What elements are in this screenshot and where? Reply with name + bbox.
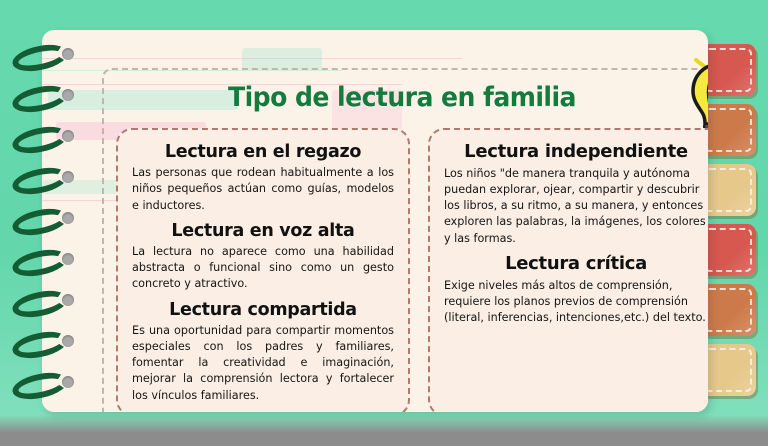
section-body: Los niños "de manera tranquila y autónom… xyxy=(444,166,708,247)
section-heading: Lectura en voz alta xyxy=(132,221,394,241)
bottom-strip xyxy=(0,432,768,446)
spiral-ring xyxy=(12,46,74,72)
section-lectura-independiente: Lectura independiente Los niños "de mane… xyxy=(444,142,708,247)
section-body: Las personas que rodean habitualmente a … xyxy=(132,165,394,214)
section-heading: Lectura crítica xyxy=(444,254,708,275)
index-tab[interactable] xyxy=(700,44,756,96)
index-tab-strip xyxy=(700,44,768,404)
index-tab[interactable] xyxy=(700,104,756,156)
section-heading: Lectura independiente xyxy=(444,142,708,163)
notebook-page: Tipo de lectura en familia Lectura en el… xyxy=(42,30,708,412)
page-title: Tipo de lectura en familia xyxy=(123,82,681,113)
index-tab[interactable] xyxy=(700,284,756,336)
spiral-ring xyxy=(12,292,74,318)
index-tab[interactable] xyxy=(700,224,756,276)
spiral-ring xyxy=(12,169,74,195)
spiral-ring xyxy=(12,210,74,236)
section-body: Es una oportunidad para compartir moment… xyxy=(132,323,394,404)
spiral-ring xyxy=(12,374,74,400)
bleed-line xyxy=(42,58,462,59)
section-lectura-en-voz-alta: Lectura en voz alta La lectura no aparec… xyxy=(132,221,394,293)
bleed-line xyxy=(42,70,342,71)
section-lectura-critica: Lectura crítica Exige niveles más altos … xyxy=(444,254,708,326)
reading-types-card-right: Lectura independiente Los niños "de mane… xyxy=(428,128,708,412)
section-heading: Lectura compartida xyxy=(132,300,394,320)
section-body: Exige niveles más altos de comprensión, … xyxy=(444,278,708,327)
spiral-binding xyxy=(12,46,84,412)
spiral-ring xyxy=(12,87,74,113)
section-lectura-en-el-regazo: Lectura en el regazo Las personas que ro… xyxy=(132,142,394,214)
bleed-blob xyxy=(242,48,322,70)
spiral-ring xyxy=(12,128,74,154)
reading-types-card-left: Lectura en el regazo Las personas que ro… xyxy=(116,128,410,412)
index-tab[interactable] xyxy=(700,344,756,396)
spiral-ring xyxy=(12,333,74,359)
section-lectura-compartida: Lectura compartida Es una oportunidad pa… xyxy=(132,300,394,404)
index-tab[interactable] xyxy=(700,164,756,216)
section-heading: Lectura en el regazo xyxy=(132,142,394,162)
spiral-ring xyxy=(12,251,74,277)
section-body: La lectura no aparece como una habilidad… xyxy=(132,244,394,293)
